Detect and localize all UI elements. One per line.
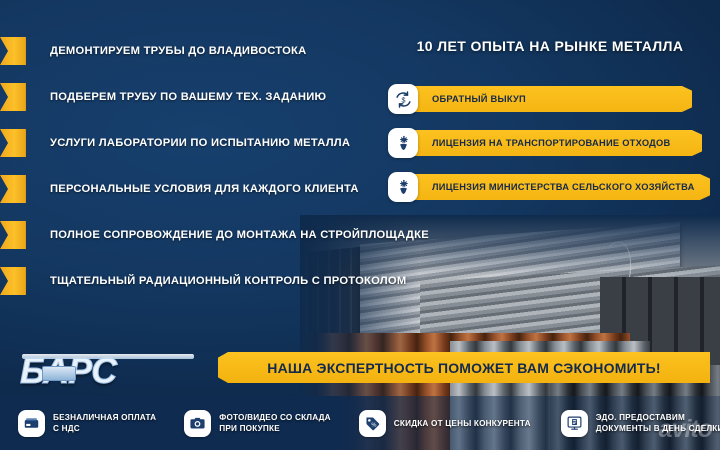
- svg-text:%: %: [371, 422, 376, 428]
- benefit-line1: ЭДО. ПРЕДОСТАВИМ: [596, 413, 685, 422]
- benefit-item: ФОТО/ВИДЕО СО СКЛАДА ПРИ ПОКУПКЕ: [184, 410, 331, 437]
- badge-item: ЛИЦЕНЗИЯ НА ТРАНСПОРТИРОВАНИЕ ОТХОДОВ: [388, 130, 710, 156]
- logo-pipe-bar: [22, 354, 194, 359]
- buyback-arrows-icon: $: [388, 84, 418, 114]
- badge-label: ОБРАТНЫЙ ВЫКУП: [432, 94, 526, 104]
- benefit-item: БЕЗНАЛИЧНАЯ ОПЛАТА С НДС: [18, 410, 156, 437]
- benefit-item: ЭДО. ПРЕДОСТАВИМ ДОКУМЕНТЫ В ДЕНЬ СДЕЛКИ: [561, 410, 720, 437]
- feature-label: ПЕРСОНАЛЬНЫЕ УСЛОВИЯ ДЛЯ КАЖДОГО КЛИЕНТА: [50, 183, 359, 195]
- feature-label: ПОДБЕРЕМ ТРУБУ ПО ВАШЕМУ ТЕХ. ЗАДАНИЮ: [50, 91, 326, 103]
- badge-item: ЛИЦЕНЗИЯ МИНИСТЕРСТВА СЕЛЬСКОГО ХОЗЯЙСТВ…: [388, 174, 710, 200]
- benefit-label: ФОТО/ВИДЕО СО СКЛАДА ПРИ ПОКУПКЕ: [219, 412, 331, 434]
- benefit-line2: ДОКУМЕНТЫ В ДЕНЬ СДЕЛКИ: [596, 424, 720, 433]
- price-tag-icon: %: [359, 410, 386, 437]
- benefit-label: БЕЗНАЛИЧНАЯ ОПЛАТА С НДС: [53, 412, 156, 434]
- feature-item: ДЕМОНТИРУЕМ ТРУБЫ ДО ВЛАДИВОСТОКА: [0, 28, 420, 74]
- feature-item: ПОДБЕРЕМ ТРУБУ ПО ВАШЕМУ ТЕХ. ЗАДАНИЮ: [0, 74, 420, 120]
- double-eagle-icon: [388, 128, 418, 158]
- feature-label: ДЕМОНТИРУЕМ ТРУБЫ ДО ВЛАДИВОСТОКА: [50, 45, 306, 57]
- feature-item: УСЛУГИ ЛАБОРАТОРИИ ПО ИСПЫТАНИЮ МЕТАЛЛА: [0, 120, 420, 166]
- ribbon-bullet-icon: [0, 175, 26, 203]
- card-payment-icon: [18, 410, 45, 437]
- bottom-benefits-bar: БЕЗНАЛИЧНАЯ ОПЛАТА С НДС ФОТО/ВИДЕО СО С…: [0, 396, 720, 450]
- feature-label: ПОЛНОЕ СОПРОВОЖДЕНИЕ ДО МОНТАЖА НА СТРОЙ…: [50, 229, 429, 241]
- benefit-line2: С НДС: [53, 424, 80, 433]
- promo-banner: ДЕМОНТИРУЕМ ТРУБЫ ДО ВЛАДИВОСТОКА ПОДБЕР…: [0, 0, 720, 450]
- ribbon-bullet-icon: [0, 129, 26, 157]
- benefit-line1: СКИДКА ОТ ЦЕНЫ КОНКУРЕНТА: [394, 419, 531, 428]
- benefit-item: % СКИДКА ОТ ЦЕНЫ КОНКУРЕНТА: [359, 410, 531, 437]
- benefit-label: ЭДО. ПРЕДОСТАВИМ ДОКУМЕНТЫ В ДЕНЬ СДЕЛКИ: [596, 412, 720, 434]
- svg-text:$: $: [401, 96, 405, 104]
- slogan-text: НАША ЭКСПЕРТНОСТЬ ПОМОЖЕТ ВАМ СЭКОНОМИТЬ…: [267, 360, 660, 376]
- ribbon-bullet-icon: [0, 83, 26, 111]
- feature-item: ТЩАТЕЛЬНЫЙ РАДИАЦИОННЫЙ КОНТРОЛЬ С ПРОТО…: [0, 258, 420, 304]
- document-screen-icon: [561, 410, 588, 437]
- double-eagle-icon: [388, 172, 418, 202]
- feature-label: УСЛУГИ ЛАБОРАТОРИИ ПО ИСПЫТАНИЮ МЕТАЛЛА: [50, 137, 350, 149]
- benefit-label: СКИДКА ОТ ЦЕНЫ КОНКУРЕНТА: [394, 418, 531, 429]
- badge-label: ЛИЦЕНЗИЯ МИНИСТЕРСТВА СЕЛЬСКОГО ХОЗЯЙСТВ…: [432, 182, 695, 192]
- page-title: 10 ЛЕТ ОПЫТА НА РЫНКЕ МЕТАЛЛА: [390, 38, 710, 54]
- ribbon-bullet-icon: [0, 267, 26, 295]
- feature-label: ТЩАТЕЛЬНЫЙ РАДИАЦИОННЫЙ КОНТРОЛЬ С ПРОТО…: [50, 275, 406, 287]
- logo-flange-icon: [42, 366, 76, 381]
- badge-item: $ ОБРАТНЫЙ ВЫКУП: [388, 86, 710, 112]
- camera-icon: [184, 410, 211, 437]
- feature-list: ДЕМОНТИРУЕМ ТРУБЫ ДО ВЛАДИВОСТОКА ПОДБЕР…: [0, 28, 420, 304]
- benefit-line1: БЕЗНАЛИЧНАЯ ОПЛАТА: [53, 413, 156, 422]
- ribbon-bullet-icon: [0, 221, 26, 249]
- feature-item: ПЕРСОНАЛЬНЫЕ УСЛОВИЯ ДЛЯ КАЖДОГО КЛИЕНТА: [0, 166, 420, 212]
- company-logo: БАРС: [20, 348, 195, 394]
- feature-item: ПОЛНОЕ СОПРОВОЖДЕНИЕ ДО МОНТАЖА НА СТРОЙ…: [0, 212, 420, 258]
- ribbon-bullet-icon: [0, 37, 26, 65]
- benefit-line2: ПРИ ПОКУПКЕ: [219, 424, 280, 433]
- benefit-line1: ФОТО/ВИДЕО СО СКЛАДА: [219, 413, 331, 422]
- badge-label: ЛИЦЕНЗИЯ НА ТРАНСПОРТИРОВАНИЕ ОТХОДОВ: [432, 138, 671, 148]
- slogan-banner: НАША ЭКСПЕРТНОСТЬ ПОМОЖЕТ ВАМ СЭКОНОМИТЬ…: [218, 352, 710, 383]
- badge-list: $ ОБРАТНЫЙ ВЫКУП ЛИЦЕНЗИЯ НА ТРАНСПОРТИР…: [388, 86, 710, 218]
